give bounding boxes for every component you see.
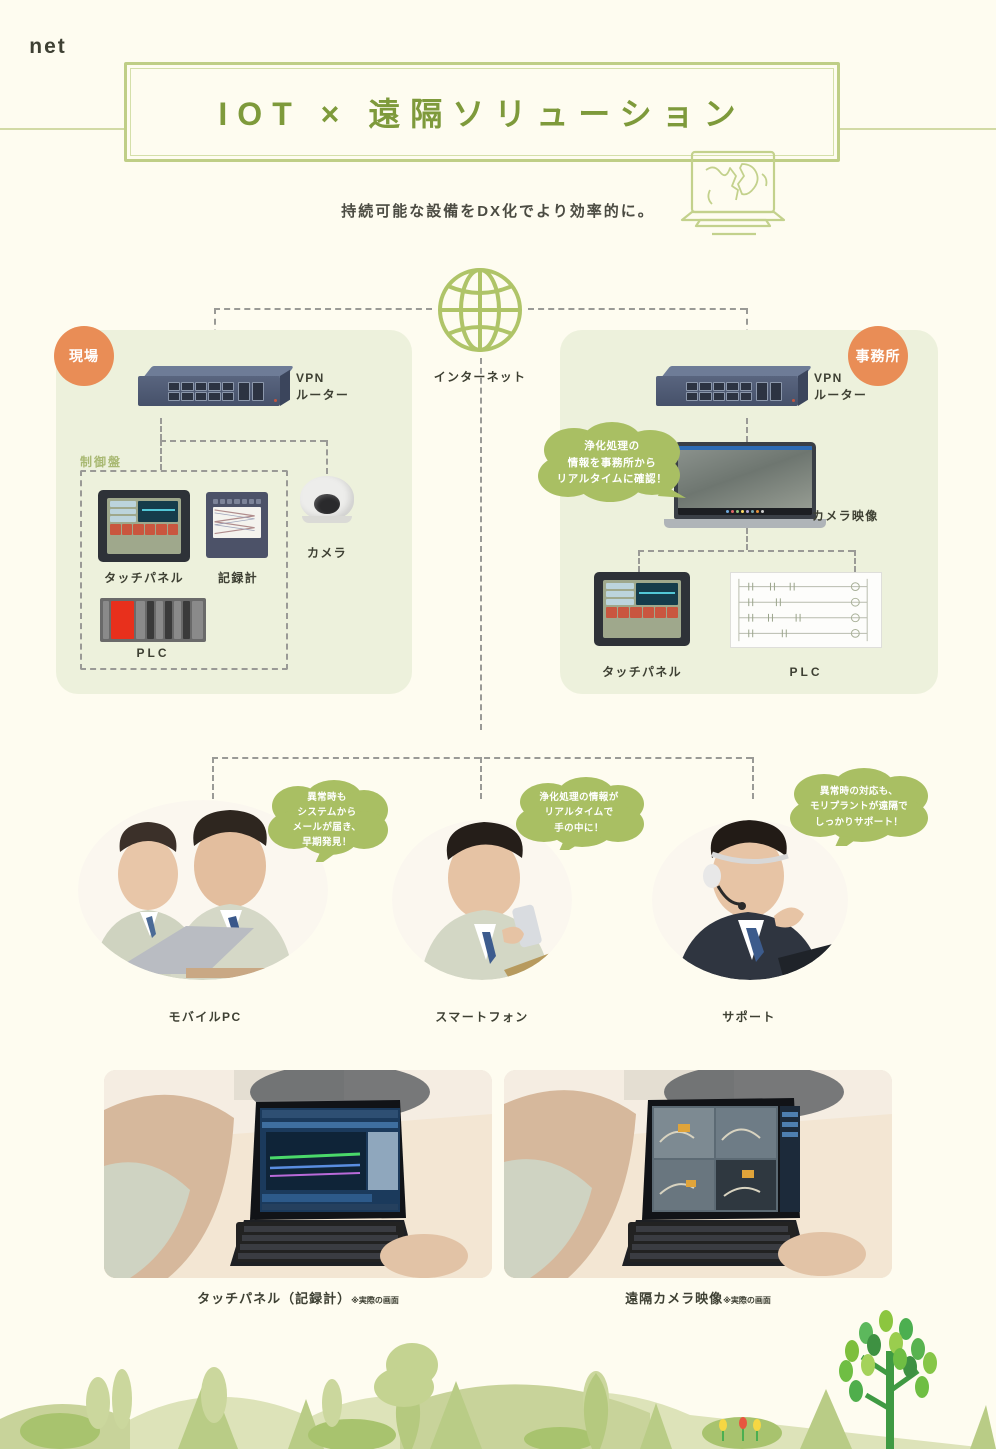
connector-people-mid: [480, 757, 482, 799]
bubble-mobile-pc-text: 異常時も システムから メールが届き、 早期発見！: [293, 790, 362, 851]
connector-office-to-tp: [638, 550, 640, 572]
photo-remote-camera: [504, 1070, 892, 1278]
connector-site-branch: [160, 440, 326, 442]
site-router-label: VPN ルーター: [296, 370, 386, 405]
office-touch-panel-device: [594, 572, 690, 646]
connector-people-right: [752, 757, 754, 799]
connector-people-left: [212, 757, 214, 799]
person-smartphone-label: スマートフォン: [396, 1008, 568, 1025]
site-plc-label: PLC: [108, 645, 198, 662]
office-camera-feed-label: カメラ映像: [812, 508, 916, 525]
connector-site-to-camera: [326, 440, 328, 474]
connector-office-router-down: [746, 418, 748, 442]
person-support-label: サポート: [684, 1008, 814, 1025]
site-camera-device: [300, 476, 354, 520]
bubble-mobile-pc: 異常時も システムから メールが届き、 早期発見！: [264, 778, 390, 862]
photo-touchpanel-recorder: [104, 1070, 492, 1278]
bubble-smartphone: 浄化処理の情報が リアルタイムで 手の中に！: [512, 776, 646, 850]
connector-globe-stem: [480, 358, 482, 730]
office-touch-panel-label: タッチパネル: [584, 664, 700, 681]
bubble-support: 異常時の対応も、 モリプラントが遠隔で しっかりサポート！: [786, 768, 932, 846]
connector-office-branch: [638, 550, 854, 552]
infographic-page: IOT × 遠隔ソリューション 持続可能な設備をDX化でより効率的に。 net …: [0, 0, 996, 1449]
laptop-world-doodle-icon: [676, 146, 794, 242]
globe-icon: [432, 262, 528, 358]
connector-globe-left: [214, 308, 432, 310]
office-plc-ladder-device: [730, 572, 882, 648]
site-touch-panel-device: [98, 490, 190, 562]
office-bubble-text: 浄化処理の 情報を事務所から リアルタイムに確認！: [557, 438, 668, 488]
site-recorder-device: [206, 492, 268, 558]
connector-office-laptop-down: [746, 528, 748, 550]
connector-site-to-ctrl: [160, 440, 162, 470]
globe-net-text: net: [0, 0, 96, 96]
site-vpn-router: [138, 366, 290, 412]
footer-landscape-illustration: [0, 1299, 996, 1449]
office-bubble: 浄化処理の 情報を事務所から リアルタイムに確認！: [534, 420, 690, 506]
site-plc-device: [100, 598, 206, 642]
connector-globe-right: [528, 308, 746, 310]
office-camera-feed-laptop: [674, 442, 816, 528]
office-vpn-router: [656, 366, 808, 412]
site-touch-panel-label: タッチパネル: [86, 570, 202, 587]
site-camera-label: カメラ: [292, 545, 362, 562]
office-router-label: VPN ルーター: [814, 370, 904, 405]
office-plc-label: PLC: [756, 664, 856, 681]
person-mobile-pc-label: モバイルPC: [120, 1008, 290, 1025]
bubble-smartphone-text: 浄化処理の情報が リアルタイムで 手の中に！: [539, 790, 618, 836]
page-subtitle: 持続可能な設備をDX化でより効率的に。: [0, 200, 996, 221]
site-recorder-label: 記録計: [198, 570, 278, 587]
bubble-support-text: 異常時の対応も、 モリプラントが遠隔で しっかりサポート！: [810, 784, 908, 830]
connector-people-bus: [212, 757, 752, 759]
connector-site-router-down: [160, 418, 162, 440]
control-box-label: 制御盤: [80, 453, 122, 470]
connector-office-to-plc: [854, 550, 856, 572]
badge-site: 現場: [54, 326, 114, 386]
